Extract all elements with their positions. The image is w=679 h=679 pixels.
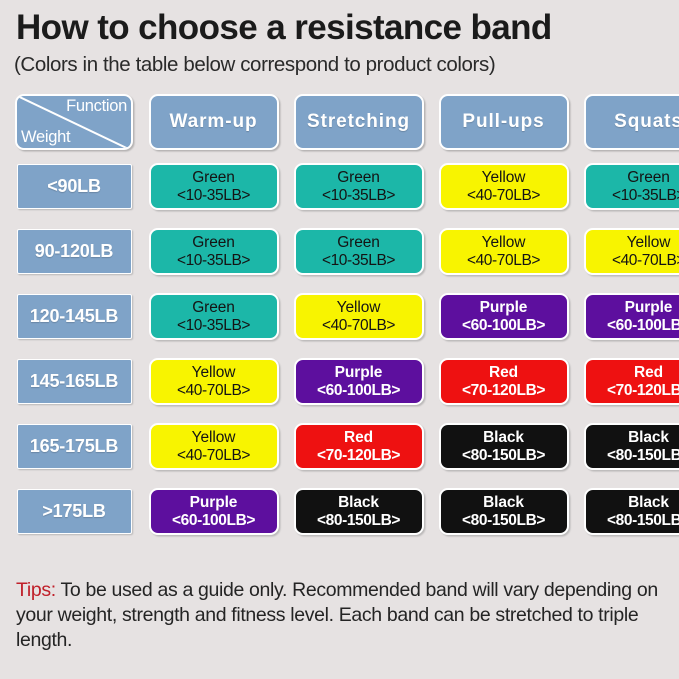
column-header-stretching: Stretching — [294, 94, 424, 150]
band-cell-green: Green<10-35LB> — [584, 163, 679, 210]
band-resistance-range: <10-35LB> — [177, 317, 250, 334]
band-resistance-range: <10-35LB> — [612, 187, 679, 204]
band-recommendation-cell: Green<10-35LB> — [581, 154, 679, 219]
column-header-warm-up: Warm-up — [149, 94, 279, 150]
band-recommendation-cell: Yellow<40-70LB> — [146, 414, 281, 479]
column-header-cell: Warm-up — [146, 89, 281, 154]
weight-row-header-cell: 165-175LB — [12, 414, 136, 479]
band-color-name: Purple — [335, 364, 383, 381]
column-header-squats: Squats — [584, 94, 679, 150]
band-resistance-range: <70-120LB> — [462, 382, 545, 399]
band-recommendation-cell: Black<80-150LB> — [581, 414, 679, 479]
band-recommendation-cell: Green<10-35LB> — [146, 154, 281, 219]
band-recommendation-cell: Red<70-120LB> — [291, 414, 426, 479]
band-cell-green: Green<10-35LB> — [149, 293, 279, 340]
band-resistance-range: <40-70LB> — [322, 317, 395, 334]
band-color-name: Green — [192, 234, 235, 251]
band-cell-black: Black<80-150LB> — [294, 488, 424, 535]
tips-note: Tips: To be used as a guide only. Recomm… — [16, 578, 669, 653]
band-color-name: Red — [634, 364, 663, 381]
band-resistance-range: <80-150LB> — [607, 512, 679, 529]
corner-weight-label: Weight — [21, 128, 70, 147]
band-recommendation-cell: Purple<60-100LB> — [436, 284, 571, 349]
weight-row-label: >175LB — [17, 489, 132, 534]
band-recommendation-cell: Green<10-35LB> — [146, 219, 281, 284]
band-recommendation-cell: Purple<60-100LB> — [146, 479, 281, 544]
page-title: How to choose a resistance band — [12, 0, 667, 47]
band-cell-green: Green<10-35LB> — [294, 228, 424, 275]
band-resistance-range: <40-70LB> — [177, 447, 250, 464]
column-header-cell: Stretching — [291, 89, 426, 154]
band-recommendation-cell: Yellow<40-70LB> — [436, 154, 571, 219]
page-subtitle: (Colors in the table below correspond to… — [12, 47, 667, 78]
column-header-pull-ups: Pull-ups — [439, 94, 569, 150]
band-cell-green: Green<10-35LB> — [149, 228, 279, 275]
band-resistance-range: <10-35LB> — [322, 252, 395, 269]
band-color-name: Green — [337, 234, 380, 251]
band-resistance-range: <70-120LB> — [607, 382, 679, 399]
band-color-name: Red — [344, 429, 373, 446]
band-cell-black: Black<80-150LB> — [439, 488, 569, 535]
band-recommendation-cell: Black<80-150LB> — [291, 479, 426, 544]
band-color-name: Black — [483, 494, 524, 511]
band-color-name: Yellow — [337, 299, 381, 316]
band-recommendation-cell: Yellow<40-70LB> — [291, 284, 426, 349]
band-cell-purple: Purple<60-100LB> — [294, 358, 424, 405]
band-cell-black: Black<80-150LB> — [439, 423, 569, 470]
band-resistance-range: <40-70LB> — [467, 252, 540, 269]
band-resistance-range: <80-150LB> — [462, 447, 545, 464]
band-resistance-range: <40-70LB> — [612, 252, 679, 269]
band-cell-red: Red<70-120LB> — [584, 358, 679, 405]
band-recommendation-cell: Black<80-150LB> — [581, 479, 679, 544]
band-recommendation-cell: Yellow<40-70LB> — [581, 219, 679, 284]
band-color-name: Purple — [190, 494, 238, 511]
band-resistance-range: <10-35LB> — [322, 187, 395, 204]
band-recommendation-cell: Red<70-120LB> — [436, 349, 571, 414]
band-cell-yellow: Yellow<40-70LB> — [439, 163, 569, 210]
band-color-name: Black — [338, 494, 379, 511]
band-resistance-range: <60-100LB> — [462, 317, 545, 334]
band-resistance-range: <60-100LB> — [607, 317, 679, 334]
band-resistance-range: <10-35LB> — [177, 187, 250, 204]
band-color-name: Black — [483, 429, 524, 446]
weight-row-header-cell: <90LB — [12, 154, 136, 219]
band-resistance-range: <60-100LB> — [172, 512, 255, 529]
band-resistance-range: <60-100LB> — [317, 382, 400, 399]
band-resistance-range: <80-150LB> — [607, 447, 679, 464]
band-cell-purple: Purple<60-100LB> — [439, 293, 569, 340]
tips-keyword: Tips: — [16, 579, 56, 601]
band-cell-red: Red<70-120LB> — [294, 423, 424, 470]
band-cell-yellow: Yellow<40-70LB> — [439, 228, 569, 275]
corner-header-cell: FunctionWeight — [12, 89, 136, 154]
band-resistance-range: <10-35LB> — [177, 252, 250, 269]
band-color-name: Yellow — [192, 429, 236, 446]
band-color-name: Yellow — [482, 169, 526, 186]
band-recommendation-cell: Yellow<40-70LB> — [146, 349, 281, 414]
band-cell-yellow: Yellow<40-70LB> — [294, 293, 424, 340]
corner-header-function-weight: FunctionWeight — [15, 94, 133, 150]
band-color-name: Black — [628, 429, 669, 446]
band-recommendation-cell: Green<10-35LB> — [146, 284, 281, 349]
band-cell-black: Black<80-150LB> — [584, 488, 679, 535]
weight-row-header-cell: >175LB — [12, 479, 136, 544]
band-resistance-range: <80-150LB> — [462, 512, 545, 529]
band-recommendation-cell: Purple<60-100LB> — [291, 349, 426, 414]
tips-body: To be used as a guide only. Recommended … — [16, 579, 658, 651]
band-resistance-range: <70-120LB> — [317, 447, 400, 464]
band-selection-table: FunctionWeightWarm-upStretchingPull-upsS… — [12, 89, 667, 544]
weight-row-label: <90LB — [17, 164, 132, 209]
column-header-cell: Squats — [581, 89, 679, 154]
band-color-name: Green — [337, 169, 380, 186]
band-color-name: Yellow — [192, 364, 236, 381]
column-header-cell: Pull-ups — [436, 89, 571, 154]
band-color-name: Yellow — [482, 234, 526, 251]
band-recommendation-cell: Green<10-35LB> — [291, 219, 426, 284]
band-color-name: Yellow — [627, 234, 671, 251]
weight-row-header-cell: 145-165LB — [12, 349, 136, 414]
band-color-name: Purple — [625, 299, 673, 316]
band-recommendation-cell: Green<10-35LB> — [291, 154, 426, 219]
band-cell-red: Red<70-120LB> — [439, 358, 569, 405]
band-resistance-range: <40-70LB> — [467, 187, 540, 204]
band-cell-green: Green<10-35LB> — [149, 163, 279, 210]
band-color-name: Green — [192, 169, 235, 186]
band-recommendation-cell: Black<80-150LB> — [436, 479, 571, 544]
band-cell-green: Green<10-35LB> — [294, 163, 424, 210]
band-color-name: Purple — [480, 299, 528, 316]
band-cell-yellow: Yellow<40-70LB> — [149, 423, 279, 470]
band-color-name: Green — [192, 299, 235, 316]
band-recommendation-cell: Yellow<40-70LB> — [436, 219, 571, 284]
weight-row-label: 145-165LB — [17, 359, 132, 404]
band-cell-black: Black<80-150LB> — [584, 423, 679, 470]
band-resistance-range: <80-150LB> — [317, 512, 400, 529]
weight-row-label: 165-175LB — [17, 424, 132, 469]
band-cell-purple: Purple<60-100LB> — [584, 293, 679, 340]
band-color-name: Red — [489, 364, 518, 381]
resistance-band-chart: How to choose a resistance band (Colors … — [0, 0, 679, 679]
band-cell-yellow: Yellow<40-70LB> — [149, 358, 279, 405]
band-color-name: Black — [628, 494, 669, 511]
weight-row-label: 120-145LB — [17, 294, 132, 339]
band-recommendation-cell: Red<70-120LB> — [581, 349, 679, 414]
weight-row-header-cell: 90-120LB — [12, 219, 136, 284]
band-recommendation-cell: Purple<60-100LB> — [581, 284, 679, 349]
weight-row-label: 90-120LB — [17, 229, 132, 274]
weight-row-header-cell: 120-145LB — [12, 284, 136, 349]
band-resistance-range: <40-70LB> — [177, 382, 250, 399]
band-recommendation-cell: Black<80-150LB> — [436, 414, 571, 479]
band-cell-yellow: Yellow<40-70LB> — [584, 228, 679, 275]
band-cell-purple: Purple<60-100LB> — [149, 488, 279, 535]
band-color-name: Green — [627, 169, 670, 186]
corner-function-label: Function — [66, 97, 127, 116]
